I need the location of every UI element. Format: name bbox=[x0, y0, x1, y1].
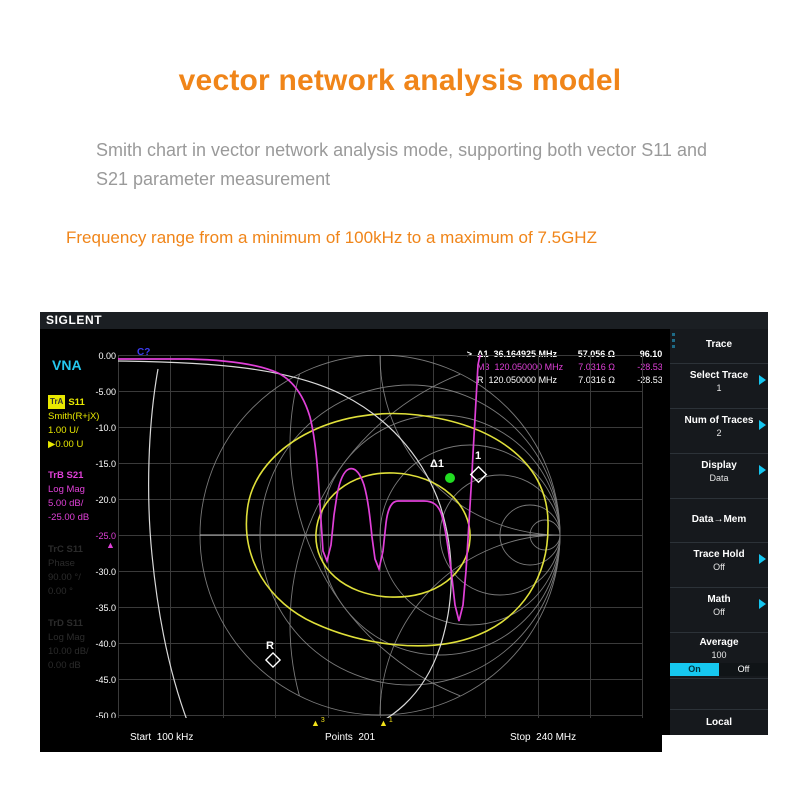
marker-tick-1-icon: ▲1 bbox=[379, 719, 392, 729]
trace-s21-logmag bbox=[118, 355, 480, 621]
menu-item-title: Trace Hold bbox=[670, 543, 768, 561]
svg-text:Δ1: Δ1 bbox=[430, 458, 444, 470]
y-tick: -35.0 bbox=[95, 603, 116, 613]
menu-item-display[interactable]: Display Data bbox=[670, 453, 768, 498]
menu-item-select-trace[interactable]: Select Trace 1 bbox=[670, 363, 768, 408]
menu-item-title: Num of Traces bbox=[670, 409, 768, 427]
menu-item-title: Select Trace bbox=[670, 364, 768, 382]
menu-item-data-to-mem[interactable]: Data→Mem bbox=[670, 498, 768, 542]
plot-svg: Δ1 1 R bbox=[118, 355, 643, 727]
menu-item-average[interactable]: Average 100 On Off bbox=[670, 632, 768, 678]
menu-header-trace[interactable]: Trace bbox=[670, 329, 768, 363]
graph-area[interactable]: VNA C? TrAS11 Smith(R+jX) 1.00 U/ ▶0.00 … bbox=[40, 329, 662, 735]
menu-item-title: Math bbox=[670, 588, 768, 606]
promo-header: vector network analysis model Smith char… bbox=[0, 0, 800, 300]
menu-item-trace-hold[interactable]: Trace Hold Off bbox=[670, 542, 768, 587]
menu-footer-label: Local bbox=[670, 710, 768, 729]
promo-title: vector network analysis model bbox=[0, 64, 800, 98]
menu-footer-local[interactable]: Local bbox=[670, 709, 768, 735]
softkey-menu: Trace Select Trace 1 Num of Traces 2 Dis… bbox=[662, 329, 768, 735]
menu-header-label: Trace bbox=[670, 329, 768, 351]
instrument-titlebar: SIGLENT bbox=[40, 312, 768, 329]
marker-tick-3-icon: ▲3 bbox=[311, 719, 324, 729]
y-tick: -15.0 bbox=[95, 459, 116, 469]
y-axis: 0.00 -5.00 -10.0 -15.0 -20.0 -25.0 ▲ -30… bbox=[40, 346, 118, 752]
menu-item-num-of-traces[interactable]: Num of Traces 2 bbox=[670, 408, 768, 453]
trace-reference-white bbox=[118, 361, 451, 727]
menu-item-value: Off bbox=[670, 606, 768, 618]
brand-logo: SIGLENT bbox=[46, 313, 102, 327]
plot-canvas[interactable]: Δ1 1 R bbox=[118, 355, 643, 727]
menu-item-math[interactable]: Math Off bbox=[670, 587, 768, 632]
menu-item-title: Display bbox=[670, 454, 768, 472]
trace-s11-smith bbox=[246, 414, 548, 646]
status-bar: ▲3 ▲1 Start 100 kHz Points 201 Stop 240 … bbox=[40, 718, 662, 752]
menu-item-value: Off bbox=[670, 561, 768, 573]
y-tick: -5.00 bbox=[95, 387, 116, 397]
y-tick: -20.0 bbox=[95, 495, 116, 505]
menu-item-title: Data→Mem bbox=[670, 499, 768, 526]
promo-note: Frequency range from a minimum of 100kHz… bbox=[66, 228, 766, 248]
sweep-stop[interactable]: Stop 240 MHz bbox=[510, 732, 576, 743]
average-toggle-off[interactable]: Off bbox=[719, 663, 768, 676]
menu-drag-handle-icon[interactable] bbox=[670, 333, 677, 351]
chevron-right-icon[interactable] bbox=[759, 420, 766, 430]
y-tick: -10.0 bbox=[95, 423, 116, 433]
vna-screen: SIGLENT VNA C? TrAS11 Smith(R+jX) 1.00 U… bbox=[40, 312, 768, 735]
svg-text:R: R bbox=[266, 640, 274, 652]
y-tick: -45.0 bbox=[95, 675, 116, 685]
y-tick: -30.0 bbox=[95, 567, 116, 577]
average-toggle[interactable]: On Off bbox=[670, 663, 768, 676]
chevron-right-icon[interactable] bbox=[759, 465, 766, 475]
sweep-start[interactable]: Start 100 kHz bbox=[130, 732, 193, 743]
y-reference-marker-icon: ▲ bbox=[106, 541, 115, 549]
y-tick: -40.0 bbox=[95, 639, 116, 649]
chevron-right-icon[interactable] bbox=[759, 375, 766, 385]
menu-item-title: Average bbox=[670, 633, 768, 649]
chevron-right-icon[interactable] bbox=[759, 599, 766, 609]
rect-grid bbox=[118, 355, 643, 718]
average-toggle-on[interactable]: On bbox=[670, 663, 719, 676]
y-tick: 0.00 bbox=[98, 351, 116, 361]
marker-reference-r[interactable]: R bbox=[266, 640, 280, 667]
svg-text:1: 1 bbox=[475, 450, 481, 462]
promo-subtitle: Smith chart in vector network analysis m… bbox=[96, 136, 716, 194]
menu-item-value: 2 bbox=[670, 427, 768, 439]
sweep-points[interactable]: Points 201 bbox=[325, 732, 375, 743]
menu-blank-slot bbox=[670, 678, 768, 709]
chevron-right-icon[interactable] bbox=[759, 554, 766, 564]
menu-item-value: Data bbox=[670, 472, 768, 484]
menu-item-value: 1 bbox=[670, 382, 768, 394]
menu-item-value: 100 bbox=[670, 649, 768, 661]
